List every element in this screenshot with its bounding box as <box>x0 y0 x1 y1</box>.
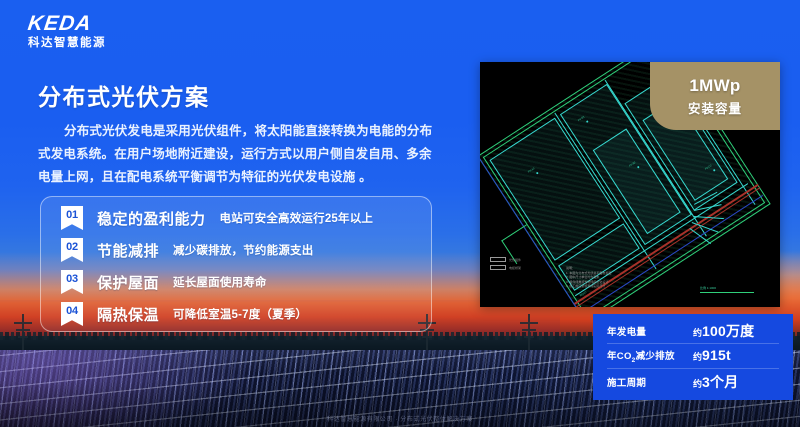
feature-number-badge: 01 <box>61 206 83 230</box>
cad-access-road <box>501 224 527 241</box>
stat-label: 施工周期 <box>607 375 646 389</box>
capacity-badge: 1MWp 安装容量 <box>650 62 780 130</box>
feature-item-04[interactable]: 04 隔热保温 可降低室温5-7度（夏季） <box>61 301 307 327</box>
stat-value-wrap: 约3个月 <box>693 372 779 392</box>
footer-watermark: 科达智慧能源有限公司 · 分布式光伏整体解决方案 <box>0 414 800 423</box>
cad-legend: 光伏组件 电缆桥架 <box>490 257 552 273</box>
feature-number-badge: 03 <box>61 270 83 294</box>
feature-number: 04 <box>66 305 78 317</box>
stat-approx: 约 <box>693 352 702 362</box>
cad-notes: 说明： 1. 本图为分布式光伏总平面布置图 2. 图中尺寸单位均为毫米 3. 组… <box>566 266 611 289</box>
stats-panel: 年发电量 约100万度 年CO2减少排放 约915t 施工周期 约3个月 <box>593 314 793 400</box>
feature-item-02[interactable]: 02 节能减排 减少碳排放，节约能源支出 <box>61 237 313 263</box>
feature-number: 01 <box>66 209 78 221</box>
stat-label-tail: 减少排放 <box>636 351 675 362</box>
feature-panel: 01 稳定的盈利能力 电站可安全高效运行25年以上 02 节能减排 减少碳排放，… <box>40 196 432 332</box>
stat-row-annual-generation: 年发电量 约100万度 <box>607 319 779 344</box>
capacity-value: 1MWp <box>689 76 740 96</box>
feature-item-03[interactable]: 03 保护屋面 延长屋面使用寿命 <box>61 269 267 295</box>
cad-site-plan[interactable]: PV-A1 PV-B1 PV-B2 PV-C1 PV-C2 ROAD 光伏组件 … <box>480 62 780 307</box>
cad-legend-row: 电缆桥架 <box>490 265 552 270</box>
capacity-label: 安装容量 <box>688 98 742 117</box>
feature-desc: 减少碳排放，节约能源支出 <box>173 242 313 258</box>
cad-legend-swatch <box>490 257 506 262</box>
cad-scale-bar <box>700 292 754 293</box>
stat-value: 100万度 <box>702 323 754 339</box>
stat-approx: 约 <box>693 328 702 338</box>
stat-approx: 约 <box>693 379 702 389</box>
feature-desc: 电站可安全高效运行25年以上 <box>220 210 374 226</box>
cad-scale-label: 比例 1:1000 <box>700 286 716 290</box>
stat-value-wrap: 约915t <box>693 347 779 365</box>
feature-title: 节能减排 <box>97 240 159 261</box>
feature-title: 隔热保温 <box>97 304 159 325</box>
cad-legend-label: 电缆桥架 <box>509 266 521 270</box>
stat-label: 年CO2减少排放 <box>607 348 675 364</box>
feature-number: 02 <box>66 241 78 253</box>
power-pylon-icon <box>520 314 538 350</box>
feature-number-badge: 04 <box>61 302 83 326</box>
power-pylon-icon <box>14 314 32 350</box>
feature-desc: 可降低室温5-7度（夏季） <box>173 306 307 322</box>
stat-value: 3个月 <box>702 374 738 390</box>
stat-label-main: 年CO <box>607 351 632 362</box>
stat-label: 年发电量 <box>607 324 646 338</box>
brand-name-cn: 科达智慧能源 <box>28 37 106 50</box>
page-title: 分布式光伏方案 <box>38 78 210 112</box>
cad-legend-swatch <box>490 265 506 270</box>
cad-legend-row: 光伏组件 <box>490 257 552 262</box>
brand-logo: KEDA 科达智慧能源 <box>28 14 106 50</box>
feature-title: 稳定的盈利能力 <box>97 208 206 229</box>
stat-row-construction-period: 施工周期 约3个月 <box>607 369 779 394</box>
cad-scale: 比例 1:1000 <box>700 286 754 293</box>
brand-mark: KEDA <box>27 14 108 34</box>
feature-number: 03 <box>66 273 78 285</box>
feature-desc: 延长屋面使用寿命 <box>173 274 267 290</box>
stat-value-wrap: 约100万度 <box>693 321 779 341</box>
feature-number-badge: 02 <box>61 238 83 262</box>
stat-row-co2-reduction: 年CO2减少排放 约915t <box>607 344 779 369</box>
slide-stage: KEDA 科达智慧能源 分布式光伏方案 分布式光伏发电是采用光伏组件，将太阳能直… <box>0 0 800 427</box>
stat-value: 915t <box>702 347 731 363</box>
intro-paragraph: 分布式光伏发电是采用光伏组件，将太阳能直接转换为电能的分布式发电系统。在用户场地… <box>38 120 443 189</box>
cad-legend-label: 光伏组件 <box>509 258 521 262</box>
feature-title: 保护屋面 <box>97 272 159 293</box>
feature-item-01[interactable]: 01 稳定的盈利能力 电站可安全高效运行25年以上 <box>61 205 373 231</box>
